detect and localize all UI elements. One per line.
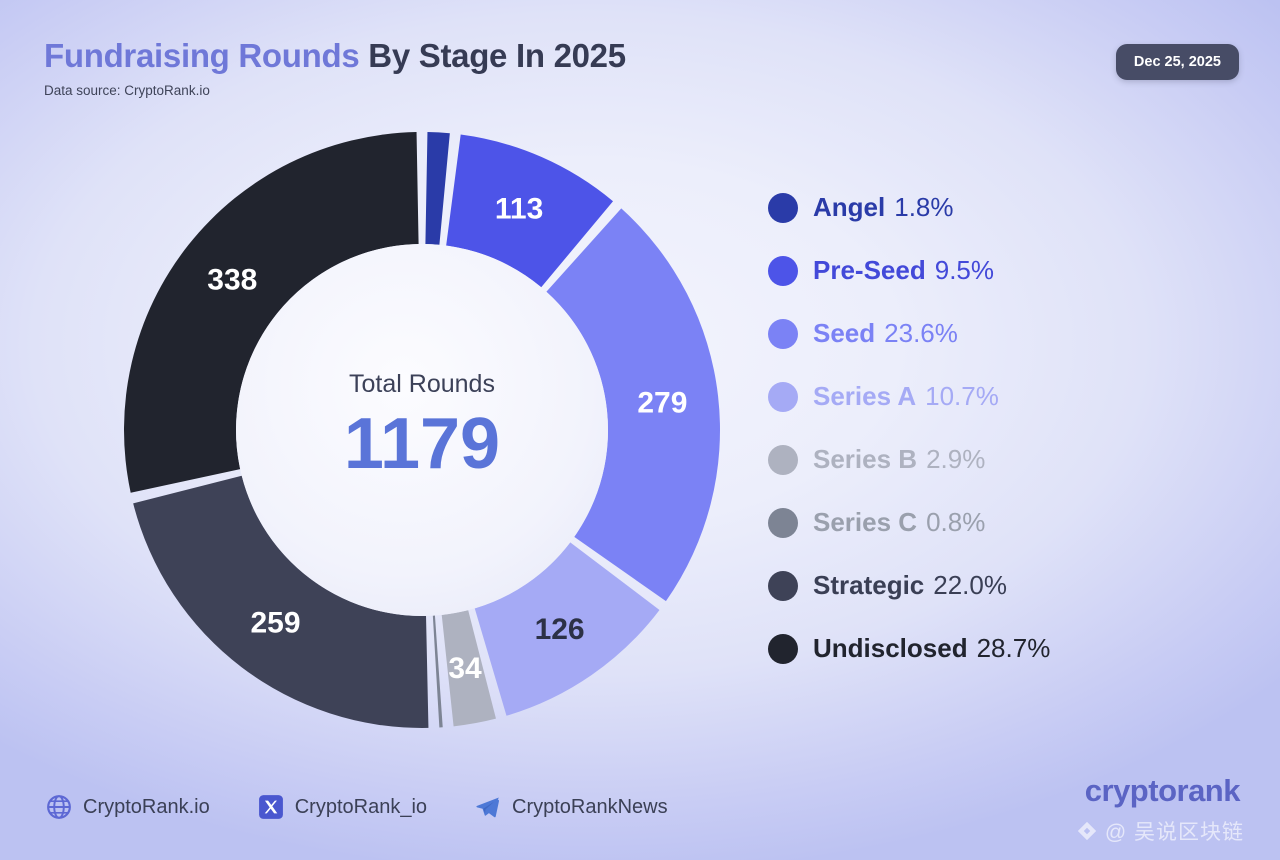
donut-chart: Total Rounds 1179 21113279126349259338 bbox=[112, 120, 732, 740]
donut-center-label: Total Rounds bbox=[349, 370, 495, 398]
slice-value-label: 126 bbox=[535, 613, 585, 646]
watermark-text: @ 吴说区块链 bbox=[1105, 816, 1244, 846]
date-badge: Dec 25, 2025 bbox=[1116, 44, 1239, 80]
title-rest: By Stage In 2025 bbox=[359, 37, 625, 74]
slice-value-label: 279 bbox=[637, 387, 687, 420]
legend-label: Angel bbox=[813, 192, 885, 223]
donut-center-value: 1179 bbox=[344, 404, 500, 484]
footer-socials: CryptoRank.io CryptoRank_io CryptoRankNe… bbox=[46, 794, 716, 820]
legend-label: Undisclosed bbox=[813, 633, 968, 664]
legend-percent: 1.8% bbox=[894, 192, 953, 223]
slice-value-label: 338 bbox=[207, 264, 257, 297]
legend-percent: 9.5% bbox=[935, 255, 994, 286]
slice-value-label: 113 bbox=[495, 192, 543, 225]
brand-logo: cryptorank bbox=[1085, 775, 1240, 806]
header: Fundraising Rounds By Stage In 2025 Data… bbox=[44, 38, 626, 98]
legend-item-series-b[interactable]: Series B2.9% bbox=[768, 428, 1238, 491]
globe-icon bbox=[46, 794, 72, 820]
legend-swatch bbox=[768, 382, 798, 412]
legend-item-angel[interactable]: Angel1.8% bbox=[768, 176, 1238, 239]
legend-swatch bbox=[768, 508, 798, 538]
data-source-label: Data source: CryptoRank.io bbox=[44, 83, 626, 98]
slice-value-label: 34 bbox=[448, 652, 482, 685]
legend-label: Series B bbox=[813, 444, 917, 475]
legend-label: Series A bbox=[813, 381, 916, 412]
legend-item-strategic[interactable]: Strategic22.0% bbox=[768, 554, 1238, 617]
legend-label: Series C bbox=[813, 507, 917, 538]
legend-percent: 23.6% bbox=[884, 318, 958, 349]
social-link-website[interactable]: CryptoRank.io bbox=[46, 794, 210, 820]
social-link-x[interactable]: CryptoRank_io bbox=[258, 794, 427, 820]
legend-swatch bbox=[768, 319, 798, 349]
chart-canvas: Fundraising Rounds By Stage In 2025 Data… bbox=[0, 0, 1280, 860]
social-link-telegram[interactable]: CryptoRankNews bbox=[475, 794, 668, 820]
legend-swatch bbox=[768, 256, 798, 286]
donut-slice-angel[interactable] bbox=[425, 132, 449, 245]
telegram-icon bbox=[475, 794, 501, 820]
social-label-x: CryptoRank_io bbox=[295, 796, 427, 819]
diamond-icon bbox=[1076, 820, 1098, 842]
legend: Angel1.8%Pre-Seed9.5%Seed23.6%Series A10… bbox=[768, 176, 1238, 680]
legend-item-pre-seed[interactable]: Pre-Seed9.5% bbox=[768, 239, 1238, 302]
watermark: @ 吴说区块链 bbox=[1076, 816, 1244, 846]
slice-value-label: 259 bbox=[250, 607, 300, 640]
social-label-website: CryptoRank.io bbox=[83, 796, 210, 819]
title-highlight: Fundraising Rounds bbox=[44, 37, 359, 74]
social-label-telegram: CryptoRankNews bbox=[512, 796, 668, 819]
legend-item-undisclosed[interactable]: Undisclosed28.7% bbox=[768, 617, 1238, 680]
legend-percent: 22.0% bbox=[933, 570, 1007, 601]
legend-percent: 2.9% bbox=[926, 444, 985, 475]
legend-percent: 0.8% bbox=[926, 507, 985, 538]
legend-swatch bbox=[768, 634, 798, 664]
legend-label: Pre-Seed bbox=[813, 255, 926, 286]
legend-swatch bbox=[768, 571, 798, 601]
legend-swatch bbox=[768, 445, 798, 475]
slice-value-label: 21 bbox=[426, 120, 455, 122]
legend-item-series-a[interactable]: Series A10.7% bbox=[768, 365, 1238, 428]
donut-slice-series-c[interactable] bbox=[433, 616, 443, 728]
legend-swatch bbox=[768, 193, 798, 223]
legend-percent: 10.7% bbox=[925, 381, 999, 412]
brand-wordmark: cryptorank bbox=[1085, 775, 1240, 806]
page-title: Fundraising Rounds By Stage In 2025 bbox=[44, 38, 626, 74]
legend-item-series-c[interactable]: Series C0.8% bbox=[768, 491, 1238, 554]
legend-item-seed[interactable]: Seed23.6% bbox=[768, 302, 1238, 365]
legend-label: Seed bbox=[813, 318, 875, 349]
legend-label: Strategic bbox=[813, 570, 924, 601]
legend-percent: 28.7% bbox=[977, 633, 1051, 664]
x-twitter-icon bbox=[258, 794, 284, 820]
donut-svg: Total Rounds 1179 21113279126349259338 bbox=[112, 120, 732, 740]
